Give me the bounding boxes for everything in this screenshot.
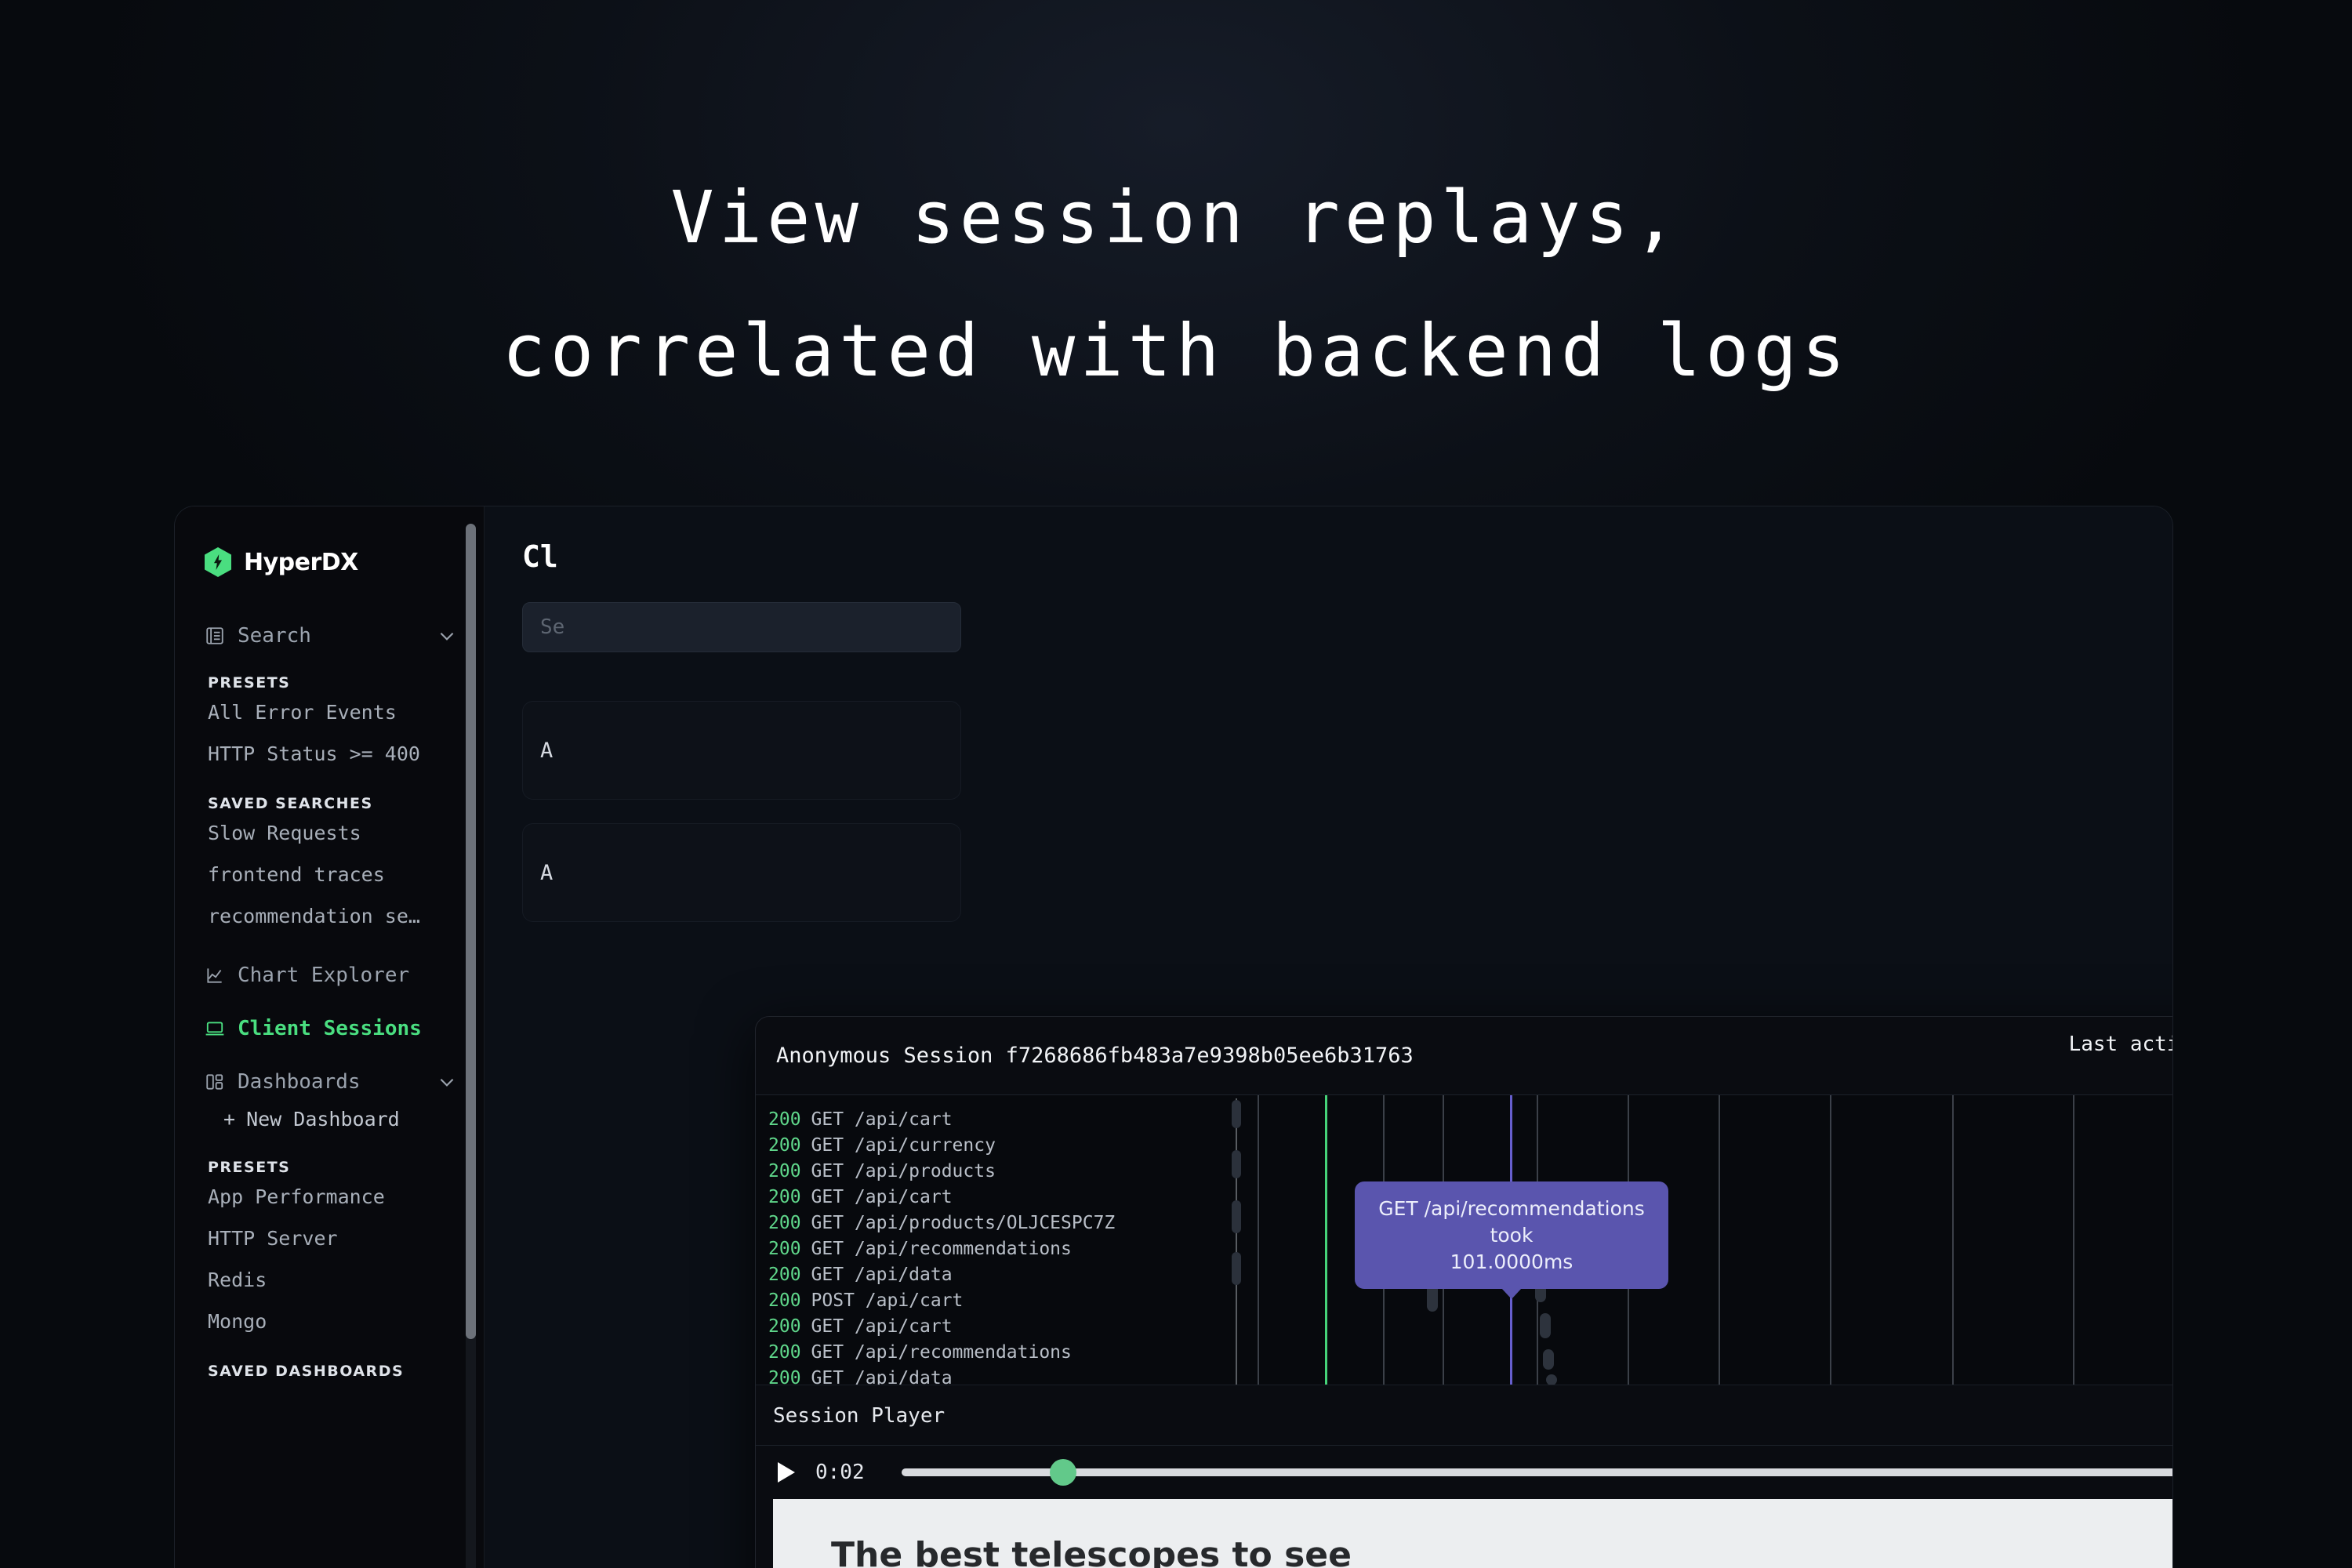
- dashboard-preset-redis[interactable]: Redis: [175, 1259, 484, 1301]
- event-label: GET /api/cart: [811, 1109, 953, 1130]
- dashboard-presets-label: PRESETS: [175, 1138, 484, 1176]
- event-scroll-segment: [1232, 1150, 1241, 1178]
- event-label: GET /api/recommendations: [811, 1342, 1072, 1363]
- timeline-gridline: [1952, 1095, 1954, 1385]
- chevron-down-icon[interactable]: [437, 1072, 457, 1092]
- session-list-item[interactable]: A: [522, 823, 961, 922]
- status-badge: 200: [768, 1239, 801, 1259]
- event-label: GET /api/cart: [811, 1316, 953, 1337]
- page-headline: View session replays, correlated with ba…: [0, 110, 2352, 459]
- sidebar-item-client-sessions-label: Client Sessions: [238, 1017, 457, 1040]
- list-item[interactable]: 200 GET /api/data: [756, 1261, 1258, 1287]
- status-badge: 200: [768, 1368, 801, 1386]
- list-item[interactable]: 200 GET /api/cart: [756, 1184, 1258, 1210]
- preset-all-error-events[interactable]: All Error Events: [175, 691, 484, 733]
- status-badge: 200: [768, 1316, 801, 1337]
- laptop-icon: [205, 1018, 225, 1039]
- saved-search-frontend-traces[interactable]: frontend traces: [175, 854, 484, 895]
- event-label: GET /api/data: [811, 1265, 953, 1285]
- timeline-gridline: [1830, 1095, 1831, 1385]
- sidebar-item-client-sessions[interactable]: Client Sessions: [175, 1011, 484, 1047]
- status-badge: 200: [768, 1187, 801, 1207]
- list-item[interactable]: 200 GET /api/cart: [756, 1313, 1258, 1339]
- saved-dashboards-label: SAVED DASHBOARDS: [175, 1342, 484, 1380]
- session-player: Session Player 0:02 1x Speed: [756, 1385, 2173, 1499]
- event-label: GET /api/currency: [811, 1135, 996, 1156]
- session-timeline-body: 200 GET /api/cart 200 GET /api/currency …: [756, 1095, 2173, 1385]
- status-badge: 200: [768, 1290, 801, 1311]
- line-chart-icon: [205, 965, 225, 985]
- plus-icon: +: [223, 1108, 235, 1131]
- tooltip-line-1: GET /api/recommendations took: [1367, 1196, 1656, 1249]
- event-list-scrollbar[interactable]: [1232, 1098, 1241, 1385]
- event-count-badge: 119 Events: [2069, 1063, 2173, 1083]
- status-badge: 200: [768, 1161, 801, 1181]
- nav-search-section: Search PRESETS All Error Events HTTP Sta…: [175, 618, 484, 937]
- sidebar-scrollbar-thumb[interactable]: [466, 524, 476, 1339]
- timeline-event-mark[interactable]: [1543, 1349, 1554, 1370]
- sidebar-item-search-label: Search: [238, 624, 424, 648]
- event-list-scroll-line: [1236, 1098, 1237, 1385]
- chevron-down-icon[interactable]: [437, 626, 457, 646]
- timeline-tooltip: GET /api/recommendations took 101.0000ms: [1355, 1181, 1668, 1289]
- presets-label: PRESETS: [175, 654, 484, 691]
- search-input[interactable]: Se: [522, 602, 961, 652]
- session-title: Anonymous Session f7268686fb483a7e9398b0…: [776, 1044, 1414, 1068]
- preset-http-status-400[interactable]: HTTP Status >= 400: [175, 733, 484, 775]
- sidebar-item-chart-explorer[interactable]: Chart Explorer: [175, 957, 484, 993]
- status-badge: 200: [768, 1265, 801, 1285]
- event-label: GET /api/recommendations: [811, 1239, 1072, 1259]
- status-badge: 200: [768, 1342, 801, 1363]
- status-badge: 200: [768, 1135, 801, 1156]
- brand-name: HyperDX: [244, 549, 358, 576]
- dashboard-preset-http-server[interactable]: HTTP Server: [175, 1218, 484, 1259]
- brand[interactable]: HyperDX: [175, 506, 484, 577]
- list-item[interactable]: 200 POST /api/cart: [756, 1287, 1258, 1313]
- timeline-marker-green: [1325, 1095, 1327, 1385]
- status-badge: 200: [768, 1213, 801, 1233]
- tooltip-line-2: 101.0000ms: [1367, 1249, 1656, 1276]
- seek-slider[interactable]: [902, 1468, 2173, 1476]
- timeline-event-mark[interactable]: [1540, 1313, 1551, 1338]
- event-scroll-segment: [1232, 1100, 1241, 1128]
- hyperdx-logo-icon: [205, 547, 231, 577]
- saved-search-recommendation[interactable]: recommendation se…: [175, 895, 484, 937]
- list-item[interactable]: 200 GET /api/products/OLJCESPC7Z: [756, 1210, 1258, 1236]
- saved-search-slow-requests[interactable]: Slow Requests: [175, 812, 484, 854]
- list-document-icon: [205, 626, 225, 646]
- sidebar-item-dashboards-label: Dashboards: [238, 1070, 424, 1094]
- event-label: GET /api/data: [811, 1368, 953, 1386]
- page-title: Cl: [522, 539, 558, 574]
- session-list-item[interactable]: A: [522, 701, 961, 800]
- event-scroll-segment: [1232, 1200, 1241, 1233]
- headline-line-2: correlated with backend logs: [0, 315, 2352, 387]
- last-active-text: Last active 11h ago: [2069, 1033, 2173, 1057]
- session-panel-header: Anonymous Session f7268686fb483a7e9398b0…: [756, 1017, 2173, 1095]
- dashboard-preset-mongo[interactable]: Mongo: [175, 1301, 484, 1342]
- seek-handle[interactable]: [1050, 1459, 1076, 1486]
- list-item[interactable]: 200 GET /api/data: [756, 1365, 1258, 1385]
- event-list[interactable]: 200 GET /api/cart 200 GET /api/currency …: [756, 1095, 1258, 1385]
- list-item[interactable]: 200 GET /api/recommendations: [756, 1236, 1258, 1261]
- timeline-event-mark[interactable]: [1546, 1374, 1557, 1385]
- session-meta: Last active 11h ago 119 Events: [2069, 1033, 2173, 1083]
- sidebar-item-search[interactable]: Search: [175, 618, 484, 654]
- list-item[interactable]: 200 GET /api/products: [756, 1158, 1258, 1184]
- event-label: GET /api/products/OLJCESPC7Z: [811, 1213, 1116, 1233]
- current-time: 0:02: [815, 1461, 881, 1484]
- replay-heading: The best telescopes to see the world clo…: [773, 1499, 1369, 1568]
- session-detail-panel: Anonymous Session f7268686fb483a7e9398b0…: [755, 1016, 2173, 1568]
- event-label: POST /api/cart: [811, 1290, 964, 1311]
- list-item[interactable]: 200 GET /api/cart: [756, 1106, 1258, 1132]
- sidebar-item-dashboards[interactable]: Dashboards: [175, 1064, 484, 1100]
- timeline-gridline: [1719, 1095, 1720, 1385]
- saved-searches-label: SAVED SEARCHES: [175, 775, 484, 812]
- dashboard-grid-icon: [205, 1072, 225, 1092]
- status-badge: 200: [768, 1109, 801, 1130]
- sidebar-item-chart-explorer-label: Chart Explorer: [238, 964, 457, 987]
- sidebar: HyperDX Search PRESETS All Error Events …: [175, 506, 485, 1568]
- app-window: HyperDX Search PRESETS All Error Events …: [174, 506, 2173, 1568]
- list-item[interactable]: 200 GET /api/currency: [756, 1132, 1258, 1158]
- timeline-grid[interactable]: GET /api/recommendations took 101.0000ms: [1258, 1095, 2173, 1385]
- dashboard-preset-app-performance[interactable]: App Performance: [175, 1176, 484, 1218]
- session-player-label: Session Player: [756, 1404, 2173, 1428]
- headline-line-1: View session replays,: [670, 176, 1681, 260]
- player-controls: 0:02 1x Speed: [756, 1446, 2173, 1499]
- replay-viewport: The best telescopes to see the world clo…: [773, 1499, 2173, 1568]
- play-icon[interactable]: [778, 1462, 795, 1483]
- event-label: GET /api/cart: [811, 1187, 953, 1207]
- new-dashboard-label: New Dashboard: [246, 1108, 400, 1131]
- timeline-gridline: [1258, 1095, 1259, 1385]
- list-item[interactable]: 200 GET /api/recommendations: [756, 1339, 1258, 1365]
- new-dashboard-button[interactable]: +New Dashboard: [175, 1100, 484, 1138]
- event-scroll-segment: [1232, 1252, 1241, 1285]
- timeline-gridline: [2073, 1095, 2074, 1385]
- event-label: GET /api/products: [811, 1161, 996, 1181]
